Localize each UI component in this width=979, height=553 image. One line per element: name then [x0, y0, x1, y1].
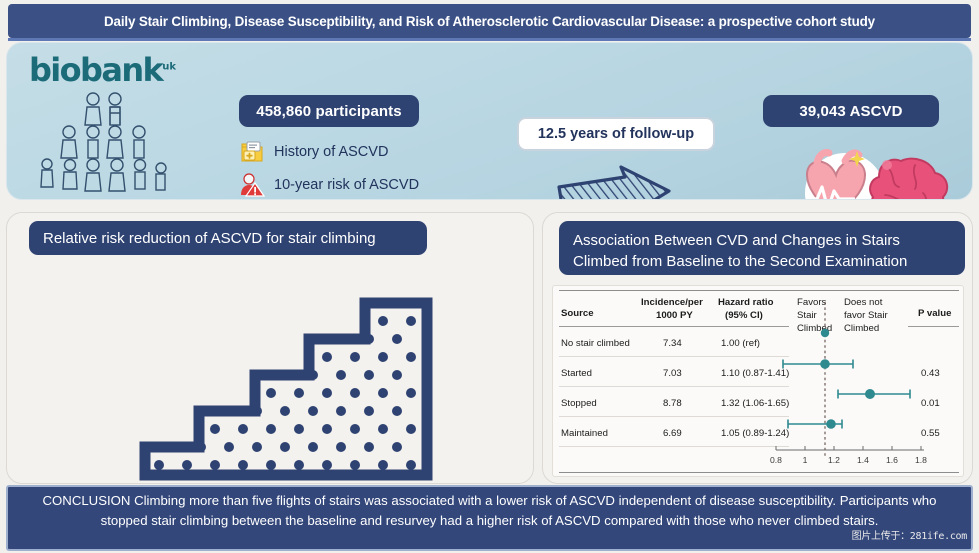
forest-point-started — [783, 360, 853, 369]
forest-plot-panel: Association Between CVD and Changes in S… — [542, 212, 973, 484]
title-underline — [8, 38, 971, 41]
followup-badge: 12.5 years of follow-up — [517, 117, 715, 151]
watermark: 图片上传于：281ife.com — [852, 527, 967, 547]
axis-tick-0: 0.8 — [770, 455, 782, 465]
participants-badge: 458,860 participants — [239, 95, 419, 127]
overview-bullet-10y-risk: 10-year risk of ASCVD — [239, 172, 419, 198]
forest-plot: 0.8 1 1.2 1.4 1.6 1.8 — [553, 286, 965, 478]
forest-axis-ticklabels: 0.8 1 1.2 1.4 1.6 1.8 — [770, 455, 927, 465]
heart-brain-icon — [783, 143, 973, 200]
staircase-chart — [7, 251, 534, 484]
right-arrow-hatched-icon — [555, 165, 675, 200]
page-title: Daily Stair Climbing, Disease Susceptibi… — [8, 4, 971, 38]
cohort-overview-panel: biobankuk — [6, 42, 973, 200]
axis-tick-1: 1 — [803, 455, 808, 465]
left-panel-header: Relative risk reduction of ASCVD for sta… — [29, 221, 427, 255]
biobank-logo: biobankuk — [29, 51, 204, 91]
axis-tick-5: 1.8 — [915, 455, 927, 465]
folder-plus-icon — [239, 139, 265, 165]
forest-point-stopped — [838, 390, 910, 399]
overview-bullet-label: History of ASCVD — [274, 144, 388, 160]
forest-point-no-stair-climbed — [822, 330, 829, 337]
right-header-line2: Climbed from Baseline to the Second Exam… — [573, 251, 907, 272]
forest-plot-table: Source Incidence/per 1000 PY Hazard rati… — [552, 285, 964, 477]
stair-climbing-panel: Relative risk reduction of ASCVD for sta… — [6, 212, 534, 484]
biobank-logo-text: biobank — [29, 51, 162, 89]
biobank-logo-suffix: uk — [162, 61, 176, 72]
ascvd-events-badge: 39,043 ASCVD — [763, 95, 939, 127]
axis-tick-4: 1.6 — [886, 455, 898, 465]
person-warning-icon — [239, 172, 265, 198]
conclusion-text: CONCLUSION Climbing more than five fligh… — [43, 493, 937, 528]
overview-bullet-label: 10-year risk of ASCVD — [274, 177, 419, 193]
people-group-icon — [25, 91, 195, 196]
infographic-root: Daily Stair Climbing, Disease Susceptibi… — [0, 0, 979, 553]
forest-point-maintained — [788, 420, 842, 429]
forest-axis — [776, 446, 924, 450]
axis-tick-3: 1.4 — [857, 455, 869, 465]
conclusion-banner: CONCLUSION Climbing more than five fligh… — [6, 485, 973, 551]
axis-tick-2: 1.2 — [828, 455, 840, 465]
right-panel-header: Association Between CVD and Changes in S… — [559, 221, 965, 275]
right-header-line1: Association Between CVD and Changes in S… — [573, 230, 900, 251]
overview-bullet-history: History of ASCVD — [239, 139, 388, 165]
